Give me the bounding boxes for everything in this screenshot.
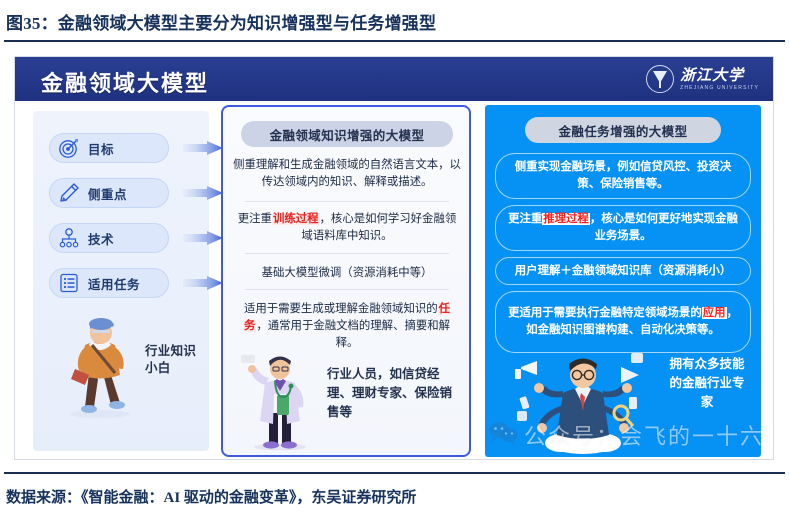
- left-persona-label: 行业知识小白: [145, 343, 201, 377]
- multitasking-businessman-illustration: [503, 343, 663, 455]
- dimension-pill-label: 适用任务: [88, 274, 140, 293]
- task-card-text: 更注重推理过程，核心是如何更好地实现金融业务场景。: [506, 211, 740, 245]
- task-column-heading-text: 金融任务增强的大模型: [558, 121, 687, 140]
- university-logo: 浙江大学 ZHEJIANG UNIVERSITY: [646, 64, 759, 94]
- task-card-technology: 用户理解＋金融领域知识库（资源消耗小）: [495, 257, 751, 285]
- task-card-focus: 更注重推理过程，核心是如何更好地实现金融业务场景。: [495, 205, 751, 251]
- knowledge-row-technology: 基础大模型微调（资源消耗中等）: [233, 265, 461, 282]
- figure-body: 目标 侧重点: [15, 101, 774, 460]
- knowledge-row-highlight: 训练过程: [272, 213, 320, 225]
- dimension-pill-label: 技术: [88, 229, 114, 248]
- knowledge-row-tasks: 适用于需要生成或理解金融领域知识的任务，通常用于金融文档的理解、摘要和解释。: [233, 301, 461, 352]
- row-divider: [245, 201, 449, 202]
- arrow-icon-technology: [183, 231, 223, 245]
- student-illustration: [59, 311, 141, 419]
- knowledge-column-heading-text: 金融领域知识增强的大模型: [270, 125, 425, 144]
- task-card-highlight: 应用: [702, 307, 727, 319]
- figure-caption: 图35：金融领域大模型主要分为知识增强型与任务增强型: [6, 9, 776, 35]
- dimension-pill-label: 目标: [88, 139, 114, 158]
- left-dimension-column: 目标 侧重点: [33, 111, 209, 451]
- pencil-icon: [58, 182, 80, 204]
- task-card-text-post: ，核心是如何更好地实现金融业务场景。: [590, 213, 738, 242]
- figure-header-bar: 金融领域大模型 浙江大学 ZHEJIANG UNIVERSITY: [15, 57, 774, 101]
- task-card-text-pre: 更注重: [508, 213, 542, 225]
- arrow-icon-goal: [183, 141, 223, 155]
- knowledge-row-text: 侧重理解和生成金融领域的自然语言文本，以传达领域内的知识、解释或描述。: [233, 159, 461, 188]
- source-note: 数据来源：《智能金融：AI 驱动的金融变革》，东吴证券研究所: [6, 486, 776, 510]
- task-card-text-pre: 更适用于需要执行金融特定领域场景的: [508, 307, 702, 319]
- task-card-highlight: 推理过程: [542, 213, 590, 225]
- knowledge-enhanced-column: 金融领域知识增强的大模型 侧重理解和生成金融领域的自然语言文本，以传达领域内的知…: [221, 105, 471, 457]
- knowledge-row-text-pre: 更注重: [238, 213, 272, 225]
- dimension-pill-goal[interactable]: 目标: [49, 133, 169, 163]
- knowledge-row-text-pre: 适用于需要生成或理解金融领域知识的: [244, 303, 438, 315]
- knowledge-row-text-post: ，通常用于金融文档的理解、摘要和解释。: [256, 320, 450, 349]
- target-icon: [58, 137, 80, 159]
- middle-persona-label: 行业人员，如信贷经理、理财专家、保险销售等: [327, 365, 457, 422]
- knowledge-row-text-post: ，核心是如何学习好金融领域语料库中知识。: [301, 213, 456, 242]
- knowledge-column-heading: 金融领域知识增强的大模型: [241, 121, 453, 147]
- figure-header-title: 金融领域大模型: [41, 66, 209, 98]
- dimension-pill-focus[interactable]: 侧重点: [49, 178, 169, 208]
- task-card-text: 用户理解＋金融领域知识库（资源消耗小）: [515, 263, 731, 280]
- task-enhanced-column: 金融任务增强的大模型 侧重实现金融场景，例如信贷风控、投资决策、保险销售等。 更…: [485, 105, 761, 457]
- task-card-text: 更适用于需要执行金融特定领域场景的应用，如金融知识图谱构建、自动化决策等。: [506, 305, 740, 339]
- network-icon: [58, 227, 80, 249]
- dimension-pill-technology[interactable]: 技术: [49, 223, 169, 253]
- doctor-expert-illustration: [241, 351, 319, 451]
- dimension-pill-label: 侧重点: [88, 184, 127, 203]
- knowledge-row-goal: 侧重理解和生成金融领域的自然语言文本，以传达领域内的知识、解释或描述。: [233, 157, 461, 191]
- logo-text: 浙江大学 ZHEJIANG UNIVERSITY: [680, 68, 759, 91]
- task-card-goal: 侧重实现金融场景，例如信贷风控、投资决策、保险销售等。: [495, 153, 751, 199]
- row-divider: [245, 253, 449, 254]
- task-column-heading: 金融任务增强的大模型: [525, 117, 721, 143]
- checklist-icon: [58, 272, 80, 294]
- task-card-text: 侧重实现金融场景，例如信贷风控、投资决策、保险销售等。: [506, 159, 740, 193]
- right-persona-label: 拥有众多技能的金融行业专家: [667, 355, 747, 412]
- zju-crest-icon: [646, 65, 674, 93]
- knowledge-row-focus: 更注重训练过程，核心是如何学习好金融领域语料库中知识。: [233, 211, 461, 245]
- logo-name-en: ZHEJIANG UNIVERSITY: [680, 86, 759, 91]
- dimension-pill-tasks[interactable]: 适用任务: [49, 268, 169, 298]
- row-divider: [245, 289, 449, 290]
- source-divider: [4, 472, 785, 474]
- knowledge-row-text: 基础大模型微调（资源消耗中等）: [262, 267, 433, 279]
- arrow-icon-tasks: [183, 276, 223, 290]
- figure-frame: 金融领域大模型 浙江大学 ZHEJIANG UNIVERSITY: [14, 56, 774, 460]
- arrow-icon-focus: [183, 186, 223, 200]
- caption-divider-top: [4, 40, 785, 42]
- logo-name-cn: 浙江大学: [680, 68, 759, 83]
